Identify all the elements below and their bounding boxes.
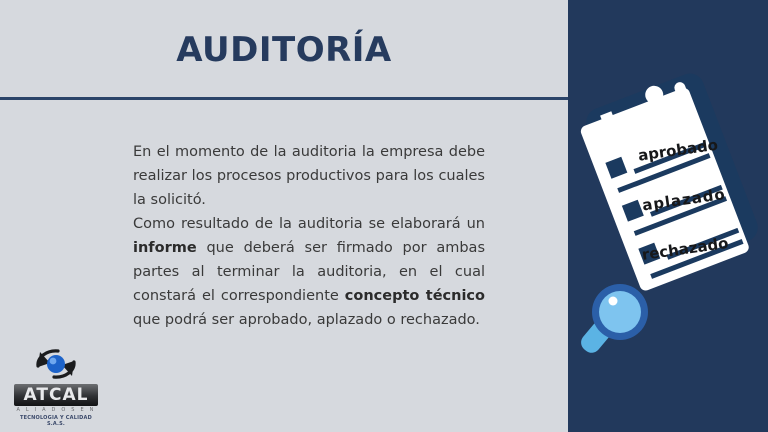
title-area: AUDITORÍA bbox=[0, 0, 568, 99]
p2-text-3: que podrá ser aprobado, aplazado o recha… bbox=[133, 312, 480, 328]
cycle-sphere-icon bbox=[28, 344, 84, 384]
paragraph-1: En el momento de la auditoria la empresa… bbox=[133, 140, 485, 212]
logo-wordmark: ATCAL bbox=[14, 384, 98, 406]
audit-clipboard-illustration: aprobado aplazado rechazado bbox=[568, 0, 768, 432]
right-decorative-panel: aprobado aplazado rechazado bbox=[568, 0, 768, 432]
body-copy: En el momento de la auditoria la empresa… bbox=[133, 140, 485, 332]
logo-tagline-1: A L I A D O S E N bbox=[14, 407, 98, 413]
p2-bold-informe: informe bbox=[133, 240, 197, 256]
logo-tagline-2: TECNOLOGIA Y CALIDAD S.A.S. bbox=[14, 415, 98, 427]
paragraph-2: Como resultado de la auditoria se elabor… bbox=[133, 212, 485, 332]
p2-text-1: Como resultado de la auditoria se elabor… bbox=[133, 216, 485, 232]
logo-name: ATCAL bbox=[14, 384, 98, 406]
magnifier-icon bbox=[577, 284, 648, 356]
p2-bold-concepto-tecnico: concepto técnico bbox=[345, 288, 485, 304]
slide: aprobado aplazado rechazado AUDITORÍA En… bbox=[0, 0, 768, 432]
atcal-logo: ATCAL A L I A D O S E N TECNOLOGIA Y CAL… bbox=[8, 342, 104, 428]
magnifier-lens bbox=[599, 291, 641, 333]
page-title: AUDITORÍA bbox=[0, 30, 568, 70]
magnifier-highlight bbox=[609, 297, 618, 306]
title-divider bbox=[0, 97, 568, 100]
